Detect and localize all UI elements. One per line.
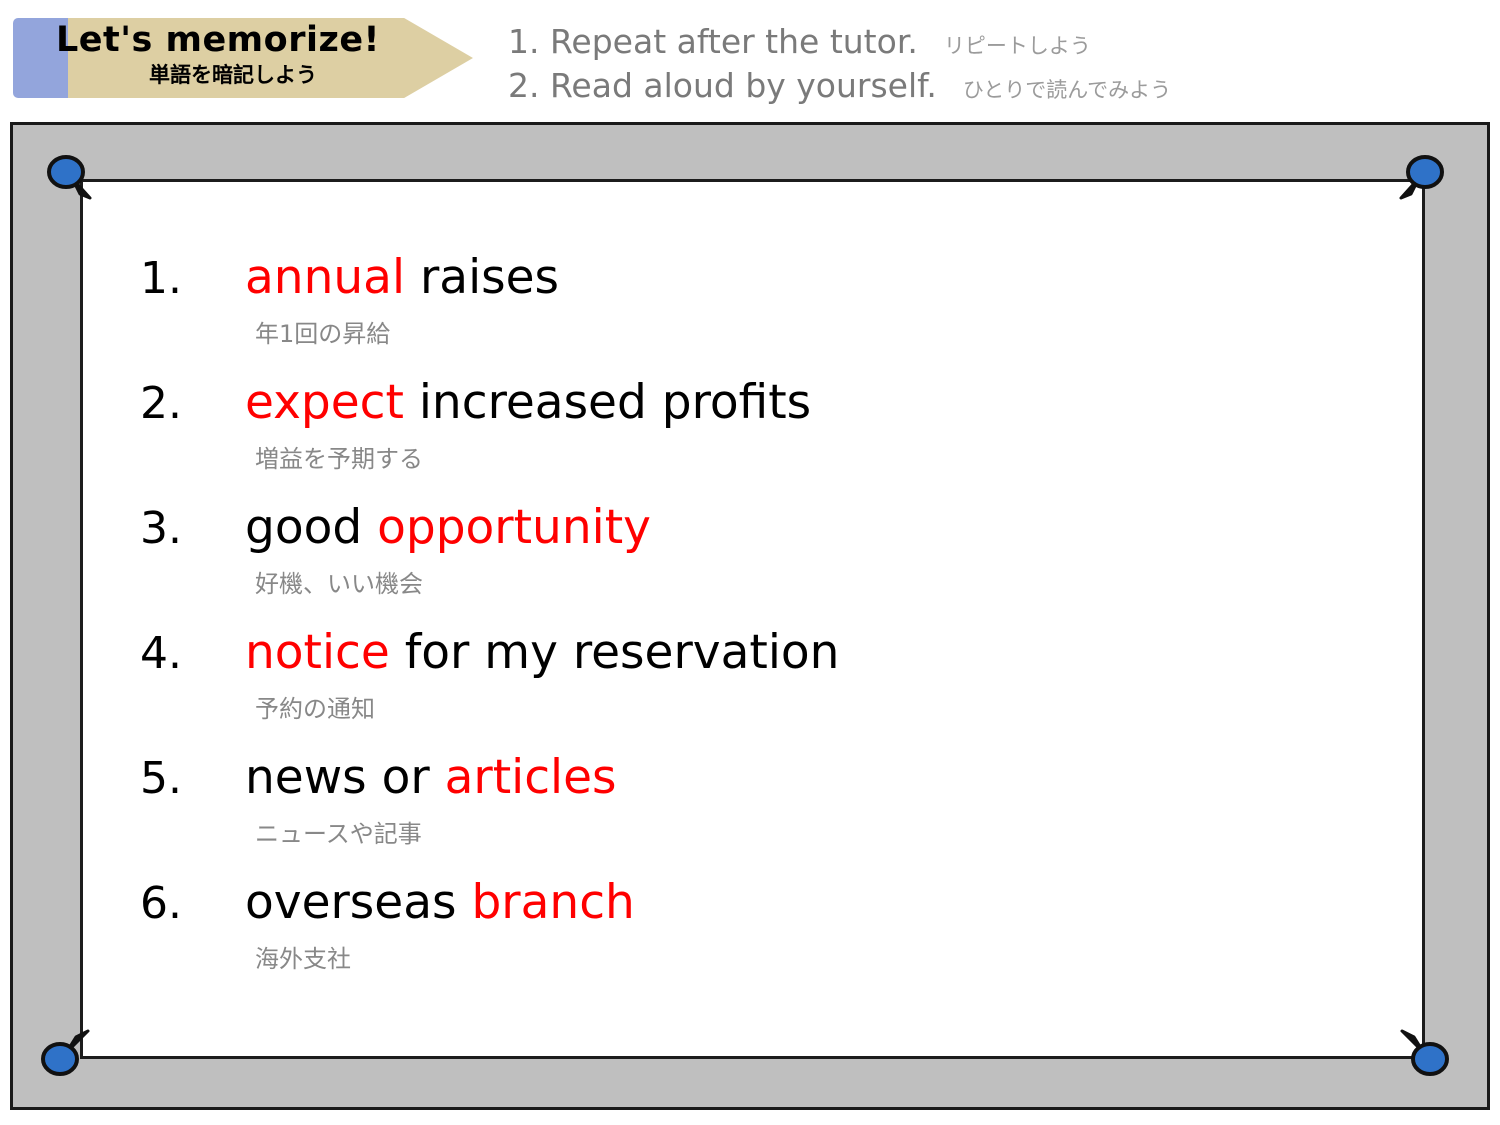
vocab-item-2: 2. expect increased profits 増益を予期する	[140, 375, 1340, 500]
vocab-item-6-pre: overseas	[245, 875, 471, 930]
vocab-item-6: 6. overseas branch 海外支社	[140, 875, 1340, 1000]
vocab-item-3: 3. good opportunity 好機、いい機会	[140, 500, 1340, 625]
vocab-item-4-main: 4. notice for my reservation	[140, 625, 1340, 695]
vocab-item-3-highlight: opportunity	[377, 500, 651, 555]
vocabulary-list: 1. annual raises 年1回の昇給 2. expect increa…	[140, 250, 1340, 1000]
vocab-item-1-phrase: annual raises	[245, 250, 559, 305]
vocab-item-6-phrase: overseas branch	[245, 875, 635, 930]
vocab-item-1-index: 1.	[140, 253, 245, 304]
vocab-item-4-post: for my reservation	[390, 625, 840, 680]
pushpin-icon-bottom-right	[1390, 1017, 1452, 1079]
vocab-item-5-highlight: articles	[445, 750, 617, 805]
vocab-item-1-highlight: annual	[245, 250, 405, 305]
vocab-item-1-post: raises	[405, 250, 559, 305]
vocab-item-5-pre: news or	[245, 750, 445, 805]
vocab-item-4: 4. notice for my reservation 予約の通知	[140, 625, 1340, 750]
vocab-item-5-japanese: ニュースや記事	[255, 814, 1340, 849]
vocab-item-3-index: 3.	[140, 503, 245, 554]
vocab-item-5-index: 5.	[140, 753, 245, 804]
header-banner: Let's memorize! 単語を暗記しよう	[13, 18, 473, 98]
vocab-item-2-main: 2. expect increased profits	[140, 375, 1340, 445]
vocab-item-5: 5. news or articles ニュースや記事	[140, 750, 1340, 875]
vocab-item-3-japanese: 好機、いい機会	[255, 564, 1340, 599]
vocab-item-6-highlight: branch	[471, 875, 634, 930]
instruction-1-japanese: リピートしよう	[944, 30, 1091, 60]
banner-text-wrap: Let's memorize! 単語を暗記しよう	[13, 18, 473, 98]
vocab-item-1-main: 1. annual raises	[140, 250, 1340, 320]
pushpin-icon-bottom-left	[38, 1017, 100, 1079]
vocab-item-2-post: increased profits	[404, 375, 811, 430]
banner-title: Let's memorize!	[0, 18, 473, 62]
instruction-row-1: 1. Repeat after the tutor. リピートしよう	[508, 22, 1308, 66]
vocab-item-2-phrase: expect increased profits	[245, 375, 811, 430]
vocab-item-5-main: 5. news or articles	[140, 750, 1340, 820]
instruction-1-english: 1. Repeat after the tutor.	[508, 22, 918, 61]
vocab-item-3-pre: good	[245, 500, 377, 555]
vocab-item-1-japanese: 年1回の昇給	[255, 314, 1340, 349]
banner-subtitle-japanese: 単語を暗記しよう	[0, 62, 473, 88]
vocab-item-4-highlight: notice	[245, 625, 390, 680]
instruction-2-english: 2. Read aloud by yourself.	[508, 66, 937, 105]
instruction-row-2: 2. Read aloud by yourself. ひとりで読んでみよう	[508, 66, 1308, 110]
vocab-item-2-japanese: 増益を予期する	[255, 439, 1340, 474]
vocab-item-5-phrase: news or articles	[245, 750, 617, 805]
vocab-item-6-index: 6.	[140, 878, 245, 929]
vocab-item-4-phrase: notice for my reservation	[245, 625, 839, 680]
instruction-2-japanese: ひとりで読んでみよう	[963, 74, 1171, 104]
vocab-item-2-index: 2.	[140, 378, 245, 429]
instructions-block: 1. Repeat after the tutor. リピートしよう 2. Re…	[508, 22, 1308, 110]
vocab-item-3-main: 3. good opportunity	[140, 500, 1340, 570]
vocab-item-2-highlight: expect	[245, 375, 404, 430]
vocab-item-4-index: 4.	[140, 628, 245, 679]
vocab-item-1: 1. annual raises 年1回の昇給	[140, 250, 1340, 375]
vocab-item-4-japanese: 予約の通知	[255, 689, 1340, 724]
vocab-item-3-phrase: good opportunity	[245, 500, 651, 555]
pushpin-icon-top-right	[1385, 152, 1447, 214]
vocab-item-6-main: 6. overseas branch	[140, 875, 1340, 945]
vocab-item-6-japanese: 海外支社	[255, 939, 1340, 974]
pushpin-icon-top-left	[44, 152, 106, 214]
